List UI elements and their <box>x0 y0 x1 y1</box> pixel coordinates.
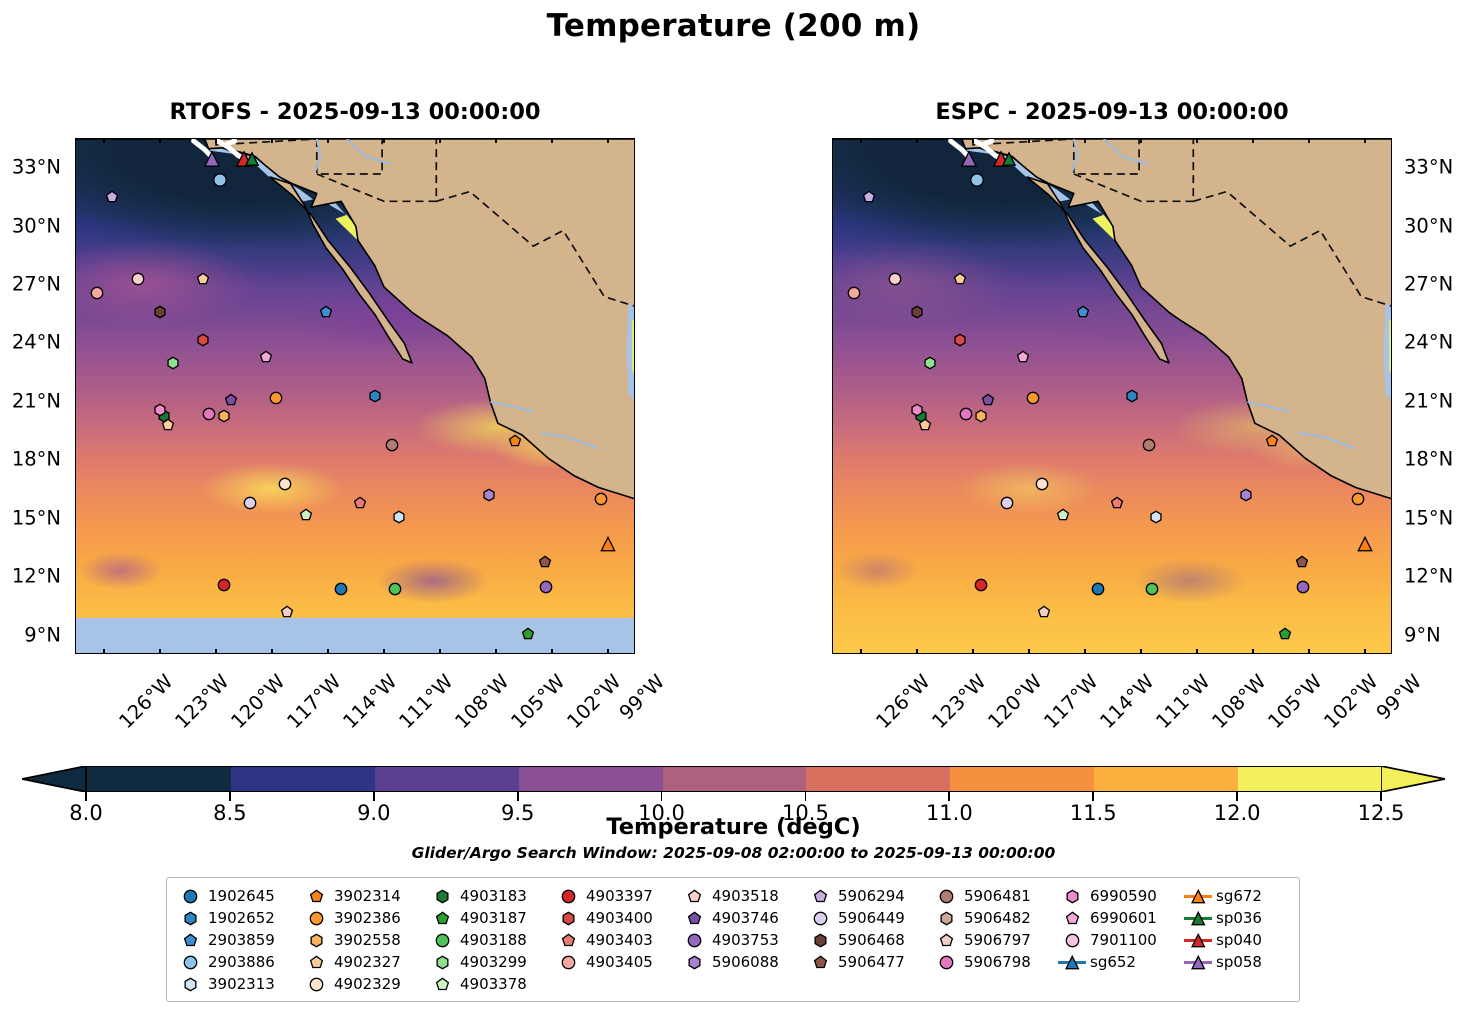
x-tick <box>841 653 843 654</box>
legend-item-4903188[interactable]: 4903188 <box>427 931 553 949</box>
x-tick-label: 102°W <box>1319 670 1382 733</box>
y-tick <box>75 323 76 325</box>
x-tick-label: 123°W <box>170 670 233 733</box>
y-tick <box>832 421 833 423</box>
legend-item-5906088[interactable]: 5906088 <box>679 953 805 971</box>
x-tick <box>1252 649 1254 654</box>
legend-label: 5906468 <box>835 931 905 949</box>
y-tick <box>1391 615 1392 617</box>
legend-label: sp036 <box>1213 909 1262 927</box>
x-tick <box>178 138 180 139</box>
x-tick <box>860 138 862 143</box>
legend-item-3902558[interactable]: 3902558 <box>301 931 427 949</box>
y-tick <box>832 635 833 637</box>
y-tick-label: 33°N <box>0 156 61 179</box>
legend-label: 5906477 <box>835 953 905 971</box>
legend-item-5906481[interactable]: 5906481 <box>931 887 1057 905</box>
panel-title-rtofs: RTOFS - 2025-09-13 00:00:00 <box>75 99 635 125</box>
x-tick <box>383 649 385 654</box>
map-marker-3902314 <box>508 434 522 448</box>
colorbar-segment <box>231 767 375 791</box>
y-tick <box>1391 635 1392 637</box>
legend-label: 2903859 <box>205 931 275 949</box>
panel-title-espc: ESPC - 2025-09-13 00:00:00 <box>832 99 1392 125</box>
y-tick <box>1391 401 1392 403</box>
y-tick <box>1391 206 1392 208</box>
legend-item-1902645[interactable]: 1902645 <box>175 887 301 905</box>
x-tick <box>178 653 180 654</box>
y-tick-label: 27°N <box>1404 273 1467 296</box>
y-tick <box>75 167 76 169</box>
legend-item-2903859[interactable]: 2903859 <box>175 931 301 949</box>
legend-label: sg672 <box>1213 887 1262 905</box>
x-tick <box>1364 649 1366 654</box>
legend-item-4903400[interactable]: 4903400 <box>553 909 679 927</box>
legend-item-5906797[interactable]: 5906797 <box>931 931 1057 949</box>
y-tick <box>75 635 76 637</box>
x-tick <box>159 138 161 143</box>
y-tick <box>634 576 635 578</box>
y-tick <box>1391 284 1392 286</box>
map-marker-3902313 <box>1149 510 1163 524</box>
map-marker-4903397 <box>974 578 988 592</box>
legend-item-sg672[interactable]: sg672 <box>1183 887 1291 905</box>
legend-marker-triangle-line-icon <box>1183 933 1213 948</box>
x-tick <box>972 649 974 654</box>
legend-item-3902313[interactable]: 3902313 <box>175 975 301 993</box>
legend-item-6990590[interactable]: 6990590 <box>1057 887 1183 905</box>
colorbar-segment <box>663 767 807 791</box>
y-tick-label: 9°N <box>0 623 61 646</box>
y-tick <box>832 479 833 481</box>
legend-label: 5906294 <box>835 887 905 905</box>
legend-item-4903299[interactable]: 4903299 <box>427 953 553 971</box>
y-tick <box>634 323 635 325</box>
x-tick <box>122 653 124 654</box>
y-tick <box>634 148 635 150</box>
legend-item-5906798[interactable]: 5906798 <box>931 953 1057 971</box>
legend-marker-circle-icon <box>301 911 331 926</box>
x-tick <box>1196 649 1198 654</box>
y-tick <box>1391 537 1392 539</box>
x-tick <box>420 653 422 654</box>
y-tick <box>75 518 76 520</box>
y-tick <box>634 421 635 423</box>
legend-label: 4903746 <box>709 909 779 927</box>
y-tick <box>634 284 635 286</box>
y-tick <box>75 226 76 228</box>
legend-label: 4903403 <box>583 931 653 949</box>
x-tick <box>991 138 993 139</box>
y-tick <box>75 265 76 267</box>
y-tick <box>1391 362 1392 364</box>
x-tick <box>879 138 881 139</box>
x-tick <box>234 653 236 654</box>
colorbar-extend-max <box>1381 766 1445 792</box>
map-marker-3902558 <box>217 409 231 423</box>
map-marker-3902386b <box>1351 492 1365 506</box>
legend-label: 5906482 <box>961 909 1031 927</box>
x-tick-label: 123°W <box>927 670 990 733</box>
x-tick <box>1364 138 1366 143</box>
y-tick <box>634 187 635 189</box>
x-tick <box>897 653 899 654</box>
x-tick <box>495 649 497 654</box>
x-tick <box>1345 138 1347 139</box>
legend-marker-hexagon-icon <box>931 911 961 926</box>
y-tick <box>634 304 635 306</box>
legend-label: 4903187 <box>457 909 527 927</box>
map-marker-4902327b <box>161 418 175 432</box>
map-marker-4903405 <box>90 286 104 300</box>
legend-marker-pentagon-icon <box>679 889 709 904</box>
colorbar-segment <box>950 767 1094 791</box>
map-marker-1902645 <box>334 582 348 596</box>
legend-label: 4903405 <box>583 953 653 971</box>
y-tick <box>832 245 833 247</box>
x-tick <box>626 653 628 654</box>
legend-item-4903753[interactable]: 4903753 <box>679 931 805 949</box>
legend-item-4903378[interactable]: 4903378 <box>427 975 553 993</box>
legend-item-4903746[interactable]: 4903746 <box>679 909 805 927</box>
x-tick <box>514 138 516 139</box>
map-marker-4903400 <box>953 333 967 347</box>
map-rtofs[interactable] <box>75 138 635 654</box>
map-marker-3902386b <box>594 492 608 506</box>
legend-column: 39023143902386390255849023274902329 <box>301 887 427 993</box>
x-tick <box>364 138 366 139</box>
map-marker-4903378 <box>1056 508 1070 522</box>
y-tick <box>832 615 833 617</box>
colorbar-tick <box>85 792 87 801</box>
map-marker-4903188 <box>388 582 402 596</box>
x-tick <box>364 653 366 654</box>
y-tick-label: 21°N <box>1404 389 1467 412</box>
map-marker-4903518 <box>888 272 902 286</box>
map-marker-5906294 <box>862 190 876 204</box>
map-marker-sp036 <box>1001 151 1016 166</box>
legend-item-4903403[interactable]: 4903403 <box>553 931 679 949</box>
legend-marker-hexagon-icon <box>427 889 457 904</box>
legend-marker-triangle-line-icon <box>1183 889 1213 904</box>
legend-item-7901100[interactable]: 7901100 <box>1057 931 1183 949</box>
legend-label: 1902652 <box>205 909 275 927</box>
x-tick <box>1121 138 1123 139</box>
x-tick <box>532 653 534 654</box>
legend-label: 4903753 <box>709 931 779 949</box>
x-tick <box>327 138 329 143</box>
y-tick <box>75 557 76 559</box>
y-tick <box>1391 167 1392 169</box>
x-tick <box>551 138 553 143</box>
x-tick <box>1103 138 1105 139</box>
y-tick <box>634 459 635 461</box>
map-marker-4903188 <box>1145 582 1159 596</box>
map-marker-5906468 <box>153 305 167 319</box>
x-tick <box>1215 138 1217 139</box>
x-tick-label: 117°W <box>1039 670 1102 733</box>
y-tick-label: 30°N <box>0 214 61 237</box>
legend-item-3902314[interactable]: 3902314 <box>301 887 427 905</box>
map-marker-sg672 <box>1357 536 1373 552</box>
x-tick <box>1327 653 1329 654</box>
x-tick <box>103 649 105 654</box>
map-marker-5906798 <box>202 407 216 421</box>
y-tick <box>75 245 76 247</box>
x-tick <box>607 649 609 654</box>
x-tick <box>402 138 404 139</box>
legend-item-5906468[interactable]: 5906468 <box>805 931 931 949</box>
map-marker-5906798 <box>959 407 973 421</box>
x-tick <box>84 653 86 654</box>
x-tick <box>916 138 918 143</box>
x-tick <box>1009 138 1011 139</box>
legend-label: 4903378 <box>457 975 527 993</box>
map-marker-4903400 <box>196 333 210 347</box>
x-tick <box>159 649 161 654</box>
y-tick <box>1391 518 1392 520</box>
y-tick <box>75 284 76 286</box>
map-marker-4903746 <box>981 393 995 407</box>
y-tick <box>832 206 833 208</box>
legend-marker-circle-icon <box>1057 933 1087 948</box>
map-marker-4902329 <box>278 477 292 491</box>
map-marker-4903746 <box>224 393 238 407</box>
y-tick <box>832 187 833 189</box>
y-tick <box>75 459 76 461</box>
legend-label: sp040 <box>1213 931 1262 949</box>
legend-label: 4903400 <box>583 909 653 927</box>
y-tick <box>75 206 76 208</box>
map-marker-3902386 <box>269 391 283 405</box>
y-tick <box>634 382 635 384</box>
y-tick <box>634 518 635 520</box>
map-marker-sg652 <box>212 172 227 187</box>
y-tick <box>75 187 76 189</box>
colorbar-tick <box>229 792 231 801</box>
y-tick <box>634 615 635 617</box>
x-tick <box>1103 653 1105 654</box>
x-tick <box>514 653 516 654</box>
x-tick <box>588 138 590 139</box>
x-tick <box>1065 138 1067 139</box>
map-marker-5906477 <box>1295 555 1309 569</box>
legend-item-2903886[interactable]: 2903886 <box>175 953 301 971</box>
map-espc[interactable] <box>832 138 1392 654</box>
legend-item-6990601[interactable]: 6990601 <box>1057 909 1183 927</box>
panel-rtofs: RTOFS - 2025-09-13 00:00:00 9°N12°N15°N1… <box>75 138 635 654</box>
x-tick <box>1271 653 1273 654</box>
x-tick <box>532 138 534 139</box>
legend-label: 4903183 <box>457 887 527 905</box>
legend-item-4902327[interactable]: 4902327 <box>301 953 427 971</box>
legend-marker-hexagon-icon <box>175 911 205 926</box>
x-tick <box>1271 138 1273 139</box>
x-tick <box>252 138 254 139</box>
map-marker-5906797 <box>1037 605 1051 619</box>
x-tick-label: 117°W <box>282 670 345 733</box>
y-tick <box>832 596 833 598</box>
y-tick-label: 27°N <box>0 273 61 296</box>
y-tick <box>75 304 76 306</box>
y-tick <box>1391 557 1392 559</box>
x-tick <box>420 138 422 139</box>
legend-column: 4903397490340049034034903405 <box>553 887 679 993</box>
y-tick-label: 15°N <box>0 506 61 529</box>
legend-item-4903397[interactable]: 4903397 <box>553 887 679 905</box>
map-marker-4902327 <box>953 272 967 286</box>
x-tick <box>84 138 86 139</box>
legend-item-4903183[interactable]: 4903183 <box>427 887 553 905</box>
map-marker-3902313 <box>392 510 406 524</box>
colorbar: 8.08.59.09.510.010.511.011.512.012.5 <box>0 756 1467 816</box>
x-tick <box>346 653 348 654</box>
x-tick-label: 114°W <box>338 670 401 733</box>
y-tick <box>75 615 76 617</box>
legend-item-4903405[interactable]: 4903405 <box>553 953 679 971</box>
legend-label: 5906797 <box>961 931 1031 949</box>
legend-marker-circle-icon <box>175 889 205 904</box>
x-tick <box>290 653 292 654</box>
x-tick <box>1140 649 1142 654</box>
colorbar-tick <box>517 792 519 801</box>
y-tick <box>634 596 635 598</box>
y-tick <box>1391 323 1392 325</box>
legend-item-sp058[interactable]: sp058 <box>1183 953 1291 971</box>
x-tick <box>1084 649 1086 654</box>
y-tick <box>832 284 833 286</box>
legend-label: 3902313 <box>205 975 275 993</box>
x-tick <box>607 138 609 143</box>
y-tick <box>634 362 635 364</box>
x-tick-label: 120°W <box>983 670 1046 733</box>
x-tick <box>1196 138 1198 143</box>
x-tick <box>935 138 937 139</box>
figure-title: Temperature (200 m) <box>0 8 1467 44</box>
legend-item-sp036[interactable]: sp036 <box>1183 909 1291 927</box>
x-tick <box>1159 138 1161 139</box>
legend-marker-circle-icon <box>427 933 457 948</box>
y-tick <box>1391 265 1392 267</box>
colorbar-title: Temperature (degC) <box>0 814 1467 840</box>
legend-label: 7901100 <box>1087 931 1157 949</box>
legend-item-1902652[interactable]: 1902652 <box>175 909 301 927</box>
colorbar-segment <box>1238 767 1382 791</box>
x-tick-label: 99°W <box>615 670 669 724</box>
legend-item-sg652[interactable]: sg652 <box>1057 953 1183 971</box>
x-tick <box>346 138 348 139</box>
x-tick <box>1009 653 1011 654</box>
y-tick <box>832 498 833 500</box>
x-tick <box>495 138 497 143</box>
x-tick <box>1233 653 1235 654</box>
legend-marker-pentagon-icon <box>553 933 583 948</box>
y-tick <box>634 245 635 247</box>
y-tick <box>832 304 833 306</box>
x-tick <box>196 653 198 654</box>
x-tick-label: 99°W <box>1372 670 1426 724</box>
y-tick <box>634 479 635 481</box>
map-marker-6990590 <box>910 403 924 417</box>
y-tick <box>1391 421 1392 423</box>
legend-marker-triangle-line-icon <box>1183 955 1213 970</box>
x-tick <box>1159 653 1161 654</box>
map-marker-5906481 <box>385 438 399 452</box>
x-tick <box>103 138 105 143</box>
x-tick-label: 126°W <box>114 670 177 733</box>
colorbar-tick <box>1380 792 1382 801</box>
legend-marker-pentagon-icon <box>301 889 331 904</box>
map-marker-1902652 <box>368 389 382 403</box>
colorbar-tick <box>948 792 950 801</box>
legend-item-5906477[interactable]: 5906477 <box>805 953 931 971</box>
map-marker-4903403 <box>353 496 367 510</box>
legend-item-3902386[interactable]: 3902386 <box>301 909 427 927</box>
y-tick <box>634 537 635 539</box>
legend-item-4903518[interactable]: 4903518 <box>679 887 805 905</box>
legend-item-5906482[interactable]: 5906482 <box>931 909 1057 927</box>
legend-marker-hexagon-icon <box>175 977 205 992</box>
legend-column: 5906481590648259067975906798 <box>931 887 1057 993</box>
y-tick <box>634 226 635 228</box>
x-tick <box>290 138 292 139</box>
x-tick <box>1327 138 1329 139</box>
y-tick <box>832 518 833 520</box>
x-tick <box>841 138 843 139</box>
colorbar-extend-min <box>22 766 86 792</box>
y-tick-label: 12°N <box>1404 565 1467 588</box>
x-tick <box>879 653 881 654</box>
y-tick <box>634 167 635 169</box>
x-tick <box>1345 653 1347 654</box>
legend-label: 5906798 <box>961 953 1031 971</box>
map-marker-6990601 <box>1016 350 1030 364</box>
map-marker-4903518 <box>131 272 145 286</box>
map-marker-4903187 <box>1278 627 1292 641</box>
colorbar-tick <box>805 792 807 801</box>
y-tick <box>832 265 833 267</box>
y-tick <box>1391 596 1392 598</box>
x-tick <box>916 649 918 654</box>
y-tick <box>1391 187 1392 189</box>
x-tick <box>476 653 478 654</box>
map-marker-5906088 <box>482 488 496 502</box>
legend-column: 699059069906017901100sg652 <box>1057 887 1183 993</box>
legend-label: 6990601 <box>1087 909 1157 927</box>
x-tick-label: 114°W <box>1095 670 1158 733</box>
y-tick <box>832 401 833 403</box>
y-tick-label: 18°N <box>0 448 61 471</box>
x-tick <box>308 653 310 654</box>
y-tick-label: 24°N <box>1404 331 1467 354</box>
y-tick <box>1391 343 1392 345</box>
legend-item-sp040[interactable]: sp040 <box>1183 931 1291 949</box>
legend-item-4902329[interactable]: 4902329 <box>301 975 427 993</box>
y-tick <box>832 459 833 461</box>
map-marker-2903859 <box>1076 305 1090 319</box>
x-tick <box>1308 649 1310 654</box>
colorbar-segment <box>375 767 519 791</box>
legend-item-5906294[interactable]: 5906294 <box>805 887 931 905</box>
legend-item-5906449[interactable]: 5906449 <box>805 909 931 927</box>
x-tick <box>383 138 385 143</box>
legend-item-4903187[interactable]: 4903187 <box>427 909 553 927</box>
x-tick <box>439 138 441 143</box>
search-window-text: Glider/Argo Search Window: 2025-09-08 02… <box>0 844 1467 862</box>
y-tick-label: 15°N <box>1404 506 1467 529</box>
legend-label: 3902314 <box>331 887 401 905</box>
y-tick <box>1391 576 1392 578</box>
